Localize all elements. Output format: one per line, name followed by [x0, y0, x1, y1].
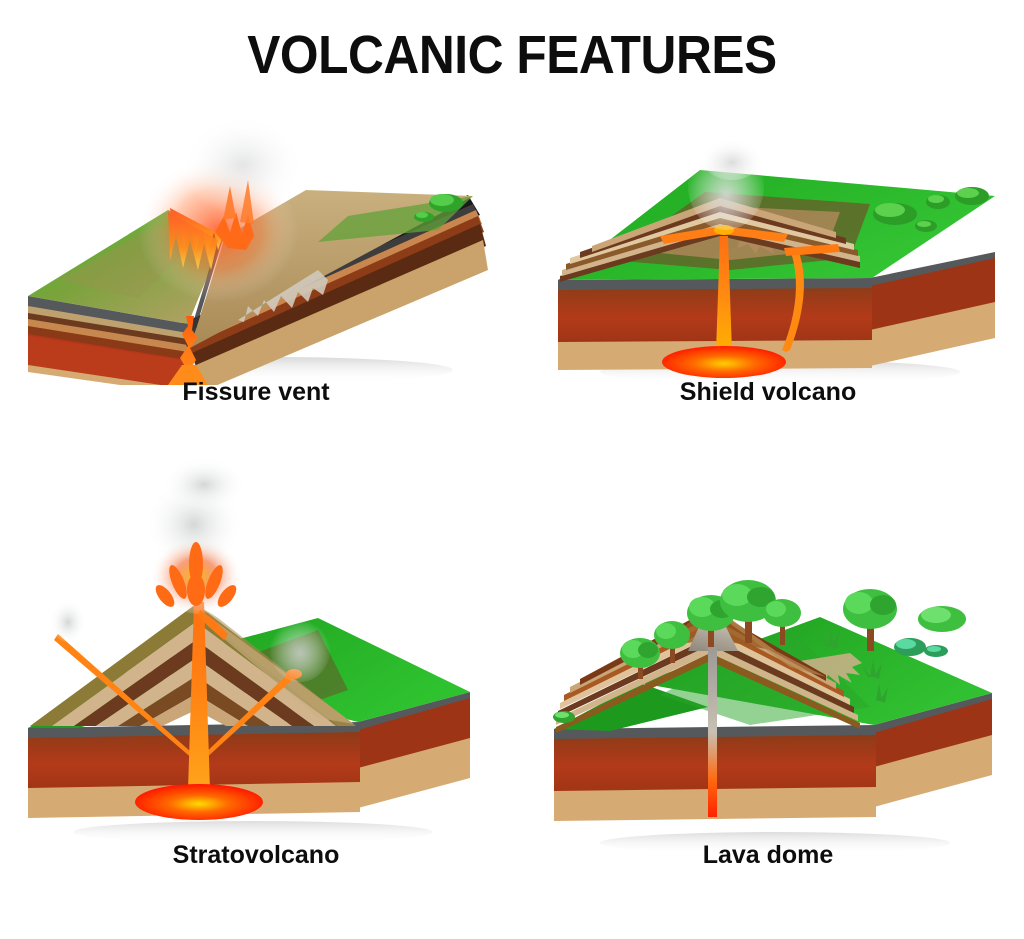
- caption-stratovolcano: Stratovolcano: [0, 841, 512, 870]
- volcanic-features-poster: VOLCANIC FEATURES: [0, 0, 1024, 939]
- figure-lava-dome: [540, 555, 1010, 855]
- narrow-conduit: [708, 647, 717, 817]
- side-steam-left: [50, 598, 86, 642]
- page-title: VOLCANIC FEATURES: [41, 24, 983, 86]
- caption-lava-dome: Lava dome: [512, 841, 1024, 870]
- magma-chamber: [662, 346, 786, 378]
- figure-shield-volcano: [540, 140, 1010, 385]
- caption-shield-volcano: Shield volcano: [512, 378, 1024, 407]
- block-right-face: [870, 252, 995, 366]
- block-shadow: [73, 821, 433, 843]
- caption-fissure-vent: Fissure vent: [0, 378, 512, 407]
- magma-chamber: [135, 784, 263, 820]
- side-steam-right: [270, 618, 330, 682]
- figure-stratovolcano: [18, 460, 488, 845]
- figure-fissure-vent: [18, 120, 498, 385]
